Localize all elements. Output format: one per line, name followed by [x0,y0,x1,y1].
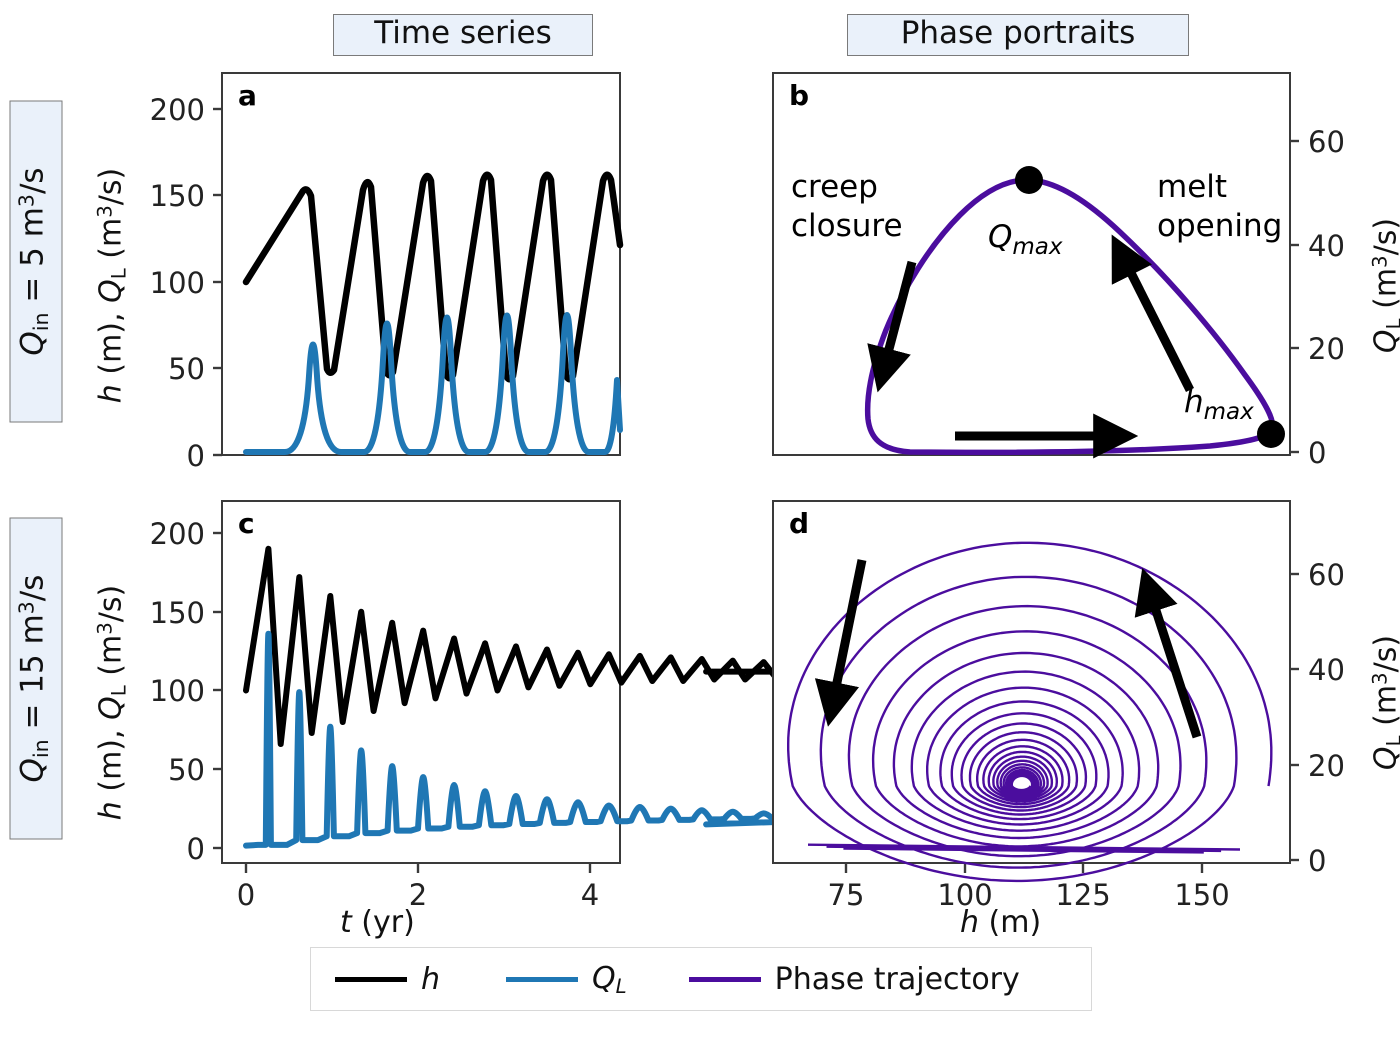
panel-a-ytick-200: 200 [150,93,205,127]
legend-swatch-h [335,977,407,982]
panel-a: a 0 50 100 150 200 [150,73,620,473]
panel-b-ylabel-right: QL (m3/s) [1369,135,1400,435]
legend-label-h: h [421,962,440,997]
panel-b-letter: b [789,79,809,112]
panel-c-frame [222,501,620,863]
annotation-creep-line1: creep [791,169,878,205]
legend-swatch-ql [506,977,578,982]
panel-c-xtick-4: 4 [581,878,599,912]
panel-d-xtick-125: 125 [1055,878,1110,912]
panel-a-q-curve [246,315,620,452]
panel-a-ylabel: h (m), QL (m3/s) [94,125,131,445]
annotation-flood-stage: Flood stage [896,82,1102,129]
panel-a-ytick-0: 0 [187,439,205,473]
panel-c-xaxis: 0 2 4 [237,863,599,912]
panel-c: c 0 50 100 150 200 0 2 4 [150,501,962,912]
figure-legend: h QL Phase trajectory [310,947,1092,1011]
panel-d-frame [773,501,1290,863]
annotation-creep-line2: closure [791,208,903,244]
row-label-qin-5: Qin = 5 m3/s [10,101,63,423]
panel-d-yaxis-right: 0 20 40 60 [1290,558,1345,878]
column-title-time-series: Time series [333,14,593,56]
panel-c-yaxis: 0 50 100 150 200 [150,517,222,866]
panel-a-yaxis: 0 50 100 150 200 [150,93,222,473]
annotation-qmax-label: Qmax [988,219,1063,260]
panel-c-h-curve [246,549,962,744]
panel-d-spiral-tail [827,847,1222,851]
panel-c-ytick-0: 0 [187,832,205,866]
panel-a-h-curve [246,175,620,380]
legend-item-h: h [335,962,440,997]
arrow-panel-d-left [833,560,862,702]
legend-label-phase-trajectory: Phase trajectory [775,962,1020,997]
arrow-melt-opening [1123,257,1190,390]
panel-a-ytick-50: 50 [168,352,205,386]
column-title-phase-portraits: Phase portraits [847,14,1189,56]
panel-b-ytick-0: 0 [1308,436,1326,470]
panel-a-ytick-100: 100 [150,266,205,300]
panel-c-ytick-200: 200 [150,517,205,551]
panel-d-ytick-20: 20 [1308,749,1345,783]
marker-hmax [1257,420,1285,448]
row-label-qin-5-text: Qin = 5 m3/s [17,167,53,355]
panel-c-q-curve [246,634,937,846]
panel-a-letter: a [238,79,257,112]
panel-d-ytick-40: 40 [1308,653,1345,687]
panel-b-ytick-60: 60 [1308,125,1345,159]
panel-c-xtick-0: 0 [237,878,255,912]
panel-d: d 0 20 40 60 75 100 125 150 [773,501,1345,912]
panel-d-ylabel-right: QL (m3/s) [1369,552,1400,852]
panel-c-xlabel: t (yr) [340,905,415,940]
panel-a-frame [222,73,620,455]
legend-swatch-phase-trajectory [689,977,761,982]
plot-canvas: a 0 50 100 150 200 b [0,0,1400,1051]
panel-d-xtick-150: 150 [1174,878,1229,912]
panel-d-xlabel: h (m) [960,905,1041,940]
panel-c-letter: c [238,507,255,540]
panel-c-ylabel: h (m), QL (m3/s) [94,542,131,862]
legend-label-ql: QL [592,961,627,998]
panel-a-ytick-150: 150 [150,179,205,213]
panel-b-yaxis-right: 0 20 40 60 [1290,125,1345,470]
annotation-melt-line2: opening [1157,208,1282,244]
annotation-melt-line1: melt [1157,169,1227,205]
legend-item-ql: QL [506,961,627,998]
arrow-creep-closure [884,262,912,368]
panel-b-ytick-20: 20 [1308,332,1345,366]
panel-d-phase-spiral [788,543,1271,881]
panel-c-ytick-100: 100 [150,674,205,708]
panel-b-ytick-40: 40 [1308,229,1345,263]
row-label-qin-15: Qin = 15 m3/s [10,518,63,840]
panel-c-ytick-150: 150 [150,596,205,630]
panel-d-ytick-0: 0 [1308,844,1326,878]
marker-qmax [1015,166,1043,194]
figure-root: Time series Phase portraits Qin = 5 m3/s… [0,0,1400,1051]
panel-d-spiral-path [788,543,1271,881]
panel-d-spiral-tail [808,845,1240,850]
annotation-hmax-label: hmax [1184,384,1254,425]
panel-c-ytick-50: 50 [168,753,205,787]
panel-d-xtick-75: 75 [828,878,865,912]
arrow-panel-d-right [1150,592,1197,737]
panel-d-spiral-tail [843,849,1203,853]
annotation-filling-stage: Filling stage [923,370,1134,417]
row-label-qin-15-text: Qin = 15 m3/s [17,575,53,783]
panel-d-ytick-60: 60 [1308,558,1345,592]
legend-item-phase-trajectory: Phase trajectory [689,962,1020,997]
panel-d-letter: d [789,507,809,540]
